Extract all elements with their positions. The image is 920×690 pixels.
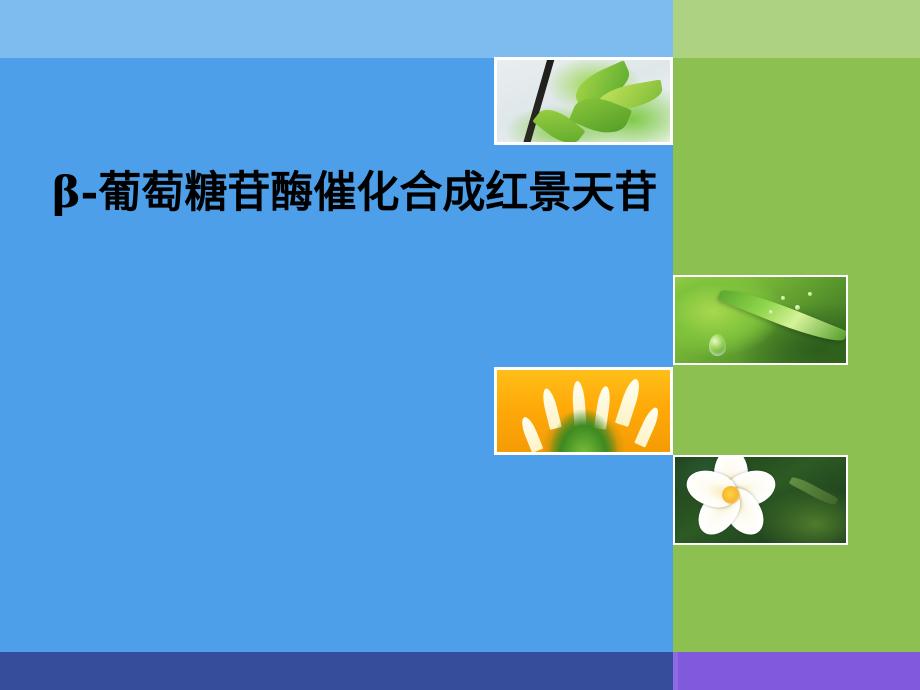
- footer-purple-band: [673, 652, 920, 690]
- water-bead-shape: [808, 292, 812, 296]
- flower-green-core-shape: [549, 400, 618, 452]
- grass-blade-shape: [717, 282, 846, 349]
- title-block: β-葡萄糖苷酶催化合成红景天苷: [52, 168, 652, 219]
- dewleaf-photo-content: [675, 277, 846, 363]
- footer-dark-blue-band: [0, 652, 673, 690]
- flower-petal-shape: [615, 377, 643, 426]
- slide-title: β-葡萄糖苷酶催化合成红景天苷: [52, 168, 652, 219]
- footer-purple-seam: [673, 652, 678, 690]
- photo-green-leaf-with-dew-drop: [673, 275, 848, 365]
- foliage-stalk-shape: [788, 475, 838, 508]
- branch-photo-content: [497, 60, 670, 142]
- photo-white-plumeria-flower: [673, 455, 848, 545]
- yellow-flower-photo-content: [497, 370, 670, 452]
- plumeria-photo-content: [675, 457, 846, 543]
- top-light-green-band: [673, 0, 920, 58]
- photo-yellow-flower-closeup: [494, 367, 673, 455]
- water-droplet-shape: [709, 334, 726, 356]
- presentation-slide: β-葡萄糖苷酶催化合成红景天苷: [0, 0, 920, 690]
- photo-branch-with-green-leaves: [494, 57, 673, 145]
- water-bead-shape: [795, 305, 800, 310]
- top-light-blue-band: [0, 0, 673, 58]
- flower-petal-shape: [634, 405, 662, 447]
- water-bead-shape: [781, 296, 785, 300]
- flower-petal-shape: [518, 415, 543, 452]
- water-bead-shape: [769, 310, 773, 314]
